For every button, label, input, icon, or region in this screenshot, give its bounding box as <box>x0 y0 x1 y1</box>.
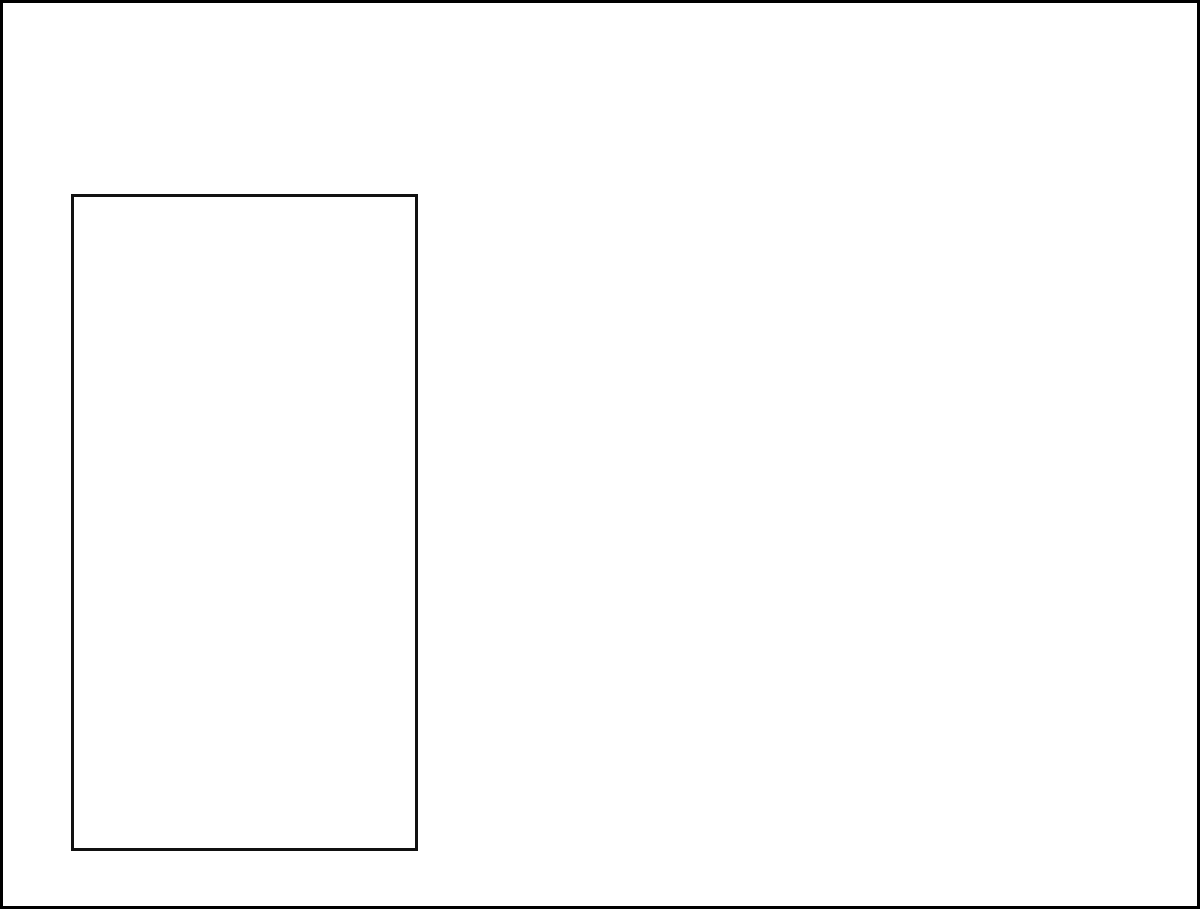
warmth-level-text <box>436 704 996 708</box>
check-icon <box>1003 360 1163 520</box>
warmth-level-text <box>436 539 996 543</box>
warmth-level-text <box>436 374 996 378</box>
warmth-level-row <box>3 358 1200 523</box>
thermometer-graphic <box>81 215 411 327</box>
warmth-level-row <box>3 523 1200 688</box>
infographic-page <box>0 0 1200 909</box>
check-icon <box>1003 690 1163 850</box>
check-icon <box>1003 525 1163 685</box>
warmth-level-row <box>3 193 1200 358</box>
thermometer-graphic <box>81 380 411 492</box>
warmth-level-row <box>3 688 1200 853</box>
check-icon <box>1003 195 1163 355</box>
warmth-level-text <box>436 209 996 213</box>
thermometer-graphic <box>81 710 411 822</box>
thermometer-graphic <box>81 545 411 657</box>
